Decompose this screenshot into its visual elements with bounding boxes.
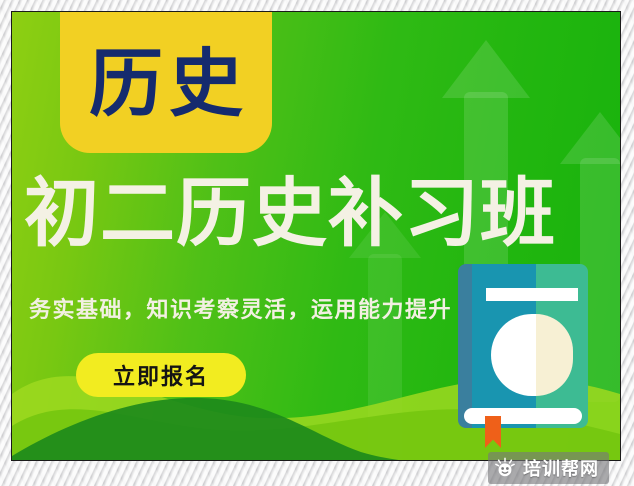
arrow-head: [560, 112, 620, 164]
enroll-now-button[interactable]: 立即报名: [76, 353, 246, 397]
screenshot-frame: 历史 初二历史补习班 务实基础，知识考察灵活，运用能力提升 立即报名: [0, 0, 634, 486]
arrow-head: [442, 40, 530, 98]
category-badge: 历史: [60, 12, 272, 153]
sun-face-icon: [494, 457, 516, 479]
banner-artboard: 历史 初二历史补习班 务实基础，知识考察灵活，运用能力提升 立即报名: [12, 12, 620, 460]
site-watermark: 培训帮网: [488, 452, 609, 484]
book-title-bar: [486, 288, 578, 301]
subtitle-text: 务实基础，知识考察灵活，运用能力提升: [29, 292, 452, 324]
enroll-now-label: 立即报名: [113, 359, 209, 391]
book-pages: [464, 408, 582, 424]
course-promo-banner[interactable]: 历史 初二历史补习班 务实基础，知识考察灵活，运用能力提升 立即报名: [11, 11, 621, 461]
page-title: 初二历史补习班: [24, 174, 594, 254]
textbook-illustration: [458, 264, 588, 428]
site-watermark-label: 培训帮网: [523, 455, 599, 481]
category-badge-label: 历史: [83, 31, 249, 121]
